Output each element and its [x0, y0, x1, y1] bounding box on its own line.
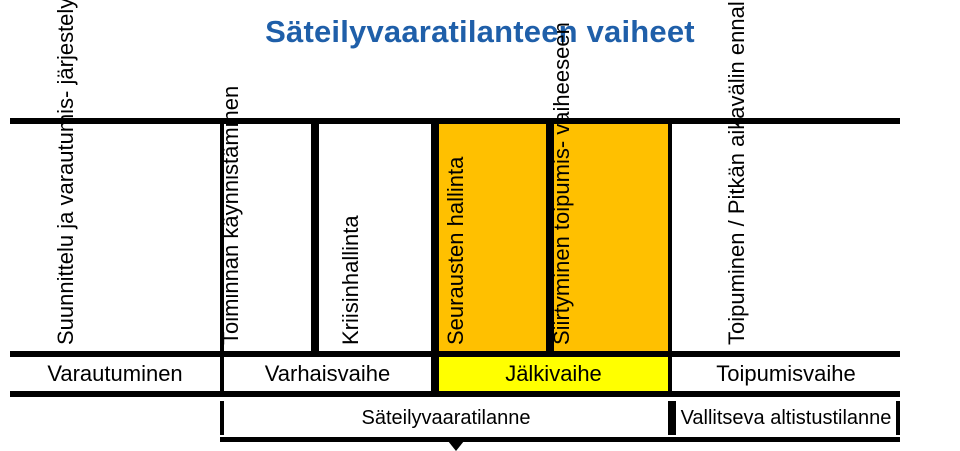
- activity-label-activation: Toiminnan käynnistäminen: [218, 86, 243, 345]
- activity-line: Toiminnan: [218, 245, 243, 345]
- situation-base-rule: [220, 437, 900, 442]
- phase-label: Toipumisvaihe: [716, 361, 855, 387]
- activity-line: käynnistäminen: [218, 86, 243, 239]
- activity-cell-recovery: Toipuminen / Pitkän aikavälin ennallista…: [672, 124, 900, 351]
- page-title: Säteilyvaaratilanteen vaiheet: [0, 14, 960, 50]
- activity-line: vaiheeseen: [549, 22, 574, 135]
- phase-cell-early: Varhaisvaihe: [220, 357, 435, 391]
- activity-label-transition-to-recovery: Siirtyminen toipumis- vaiheeseen: [549, 22, 574, 345]
- situation-band: Säteilyvaaratilanne Vallitseva altistust…: [220, 401, 900, 435]
- activity-line: järjestelyt: [53, 0, 78, 85]
- phase-cell-preparedness: Varautuminen: [10, 357, 220, 391]
- phase-transition-marker-icon: [448, 441, 464, 451]
- phase-bottom-rule: [10, 391, 900, 397]
- activity-cell-consequence-management: Seurausten hallinta: [435, 124, 550, 351]
- situation-label: Vallitseva altistustilanne: [681, 407, 892, 430]
- activity-label-consequence-management: Seurausten hallinta: [443, 157, 468, 345]
- activity-band: Suunnittelu ja varautumis- järjestelyt T…: [10, 124, 900, 351]
- activity-line: varautumis-: [53, 91, 78, 206]
- activity-line: Suunnittelu ja: [53, 212, 78, 345]
- situation-cell-existing-exposure: Vallitseva altistustilanne: [672, 401, 900, 435]
- activity-cell-activation: Toiminnan käynnistäminen: [220, 124, 315, 351]
- activity-label-crisis-management: Kriisinhallinta: [338, 215, 363, 345]
- phase-cell-recovery: Toipumisvaihe: [672, 357, 900, 391]
- phase-label: Jälkivaihe: [505, 361, 602, 387]
- phase-label: Varautuminen: [47, 361, 182, 387]
- activity-line: toipumis-: [549, 141, 574, 230]
- situation-cell-emergency-exposure: Säteilyvaaratilanne: [220, 401, 672, 435]
- activity-line: hallinta: [443, 157, 468, 227]
- activity-line: Siirtyminen: [549, 236, 574, 345]
- activity-cell-crisis-management: Kriisinhallinta: [315, 124, 435, 351]
- situation-label: Säteilyvaaratilanne: [362, 407, 531, 430]
- activity-line: Pitkän aikavälin: [724, 61, 749, 214]
- phase-label: Varhaisvaihe: [265, 361, 391, 387]
- activity-cell-transition-to-recovery: Siirtyminen toipumis- vaiheeseen: [550, 124, 672, 351]
- phase-cell-late: Jälkivaihe: [435, 357, 672, 391]
- radiation-emergency-phases-diagram: Suunnittelu ja varautumis- järjestelyt T…: [10, 118, 900, 428]
- phase-band: Varautuminen Varhaisvaihe Jälkivaihe Toi…: [10, 357, 900, 391]
- activity-label-planning: Suunnittelu ja varautumis- järjestelyt: [53, 0, 78, 345]
- activity-line: ennallistaminen: [724, 0, 749, 55]
- activity-line: Toipuminen /: [724, 220, 749, 345]
- activity-label-recovery: Toipuminen / Pitkän aikavälin ennallista…: [724, 0, 749, 345]
- activity-cell-planning: Suunnittelu ja varautumis- järjestelyt: [10, 124, 220, 351]
- activity-line: Seurausten: [443, 232, 468, 345]
- activity-line: Kriisinhallinta: [338, 215, 363, 345]
